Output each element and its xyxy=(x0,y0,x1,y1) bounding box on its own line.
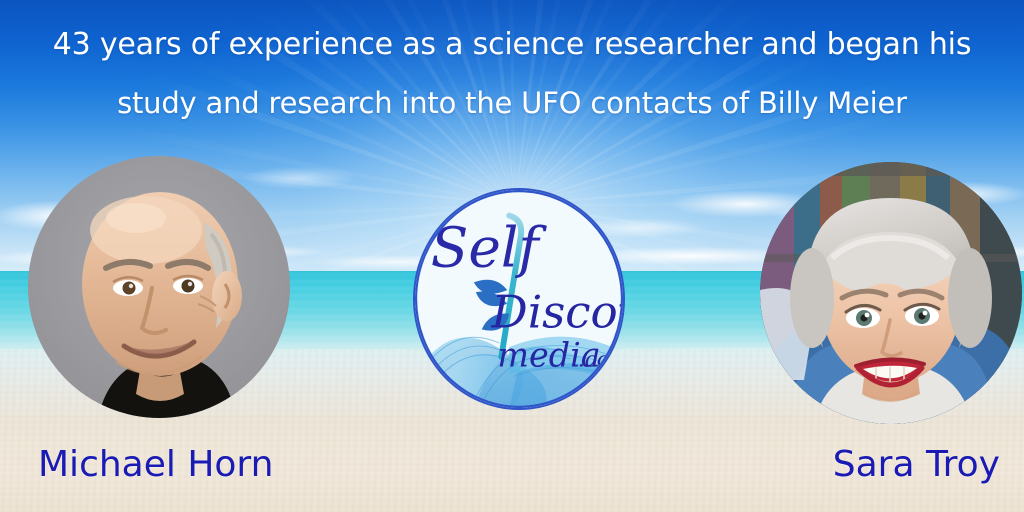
guest-avatar-michael-horn xyxy=(28,156,290,418)
portrait-avatar-icon xyxy=(28,156,290,418)
svg-text:Self: Self xyxy=(431,216,548,280)
guest-name-sara-troy: Sara Troy xyxy=(833,444,1000,485)
portrait-avatar-icon xyxy=(760,162,1022,424)
banner-headline: 43 years of experience as a science rese… xyxy=(0,16,1024,132)
headline-line-1: 43 years of experience as a science rese… xyxy=(0,16,1024,74)
logo-icon: Self Discovery media .com xyxy=(415,190,623,408)
headline-line-2: study and research into the UFO contacts… xyxy=(0,74,1024,132)
svg-text:.com: .com xyxy=(578,348,623,373)
self-discovery-media-logo[interactable]: Self Discovery media .com xyxy=(413,188,625,410)
svg-text:Discovery: Discovery xyxy=(491,285,623,338)
guest-name-michael-horn: Michael Horn xyxy=(38,444,273,485)
podcast-banner: 43 years of experience as a science rese… xyxy=(0,0,1024,512)
guest-avatar-sara-troy xyxy=(760,162,1022,424)
